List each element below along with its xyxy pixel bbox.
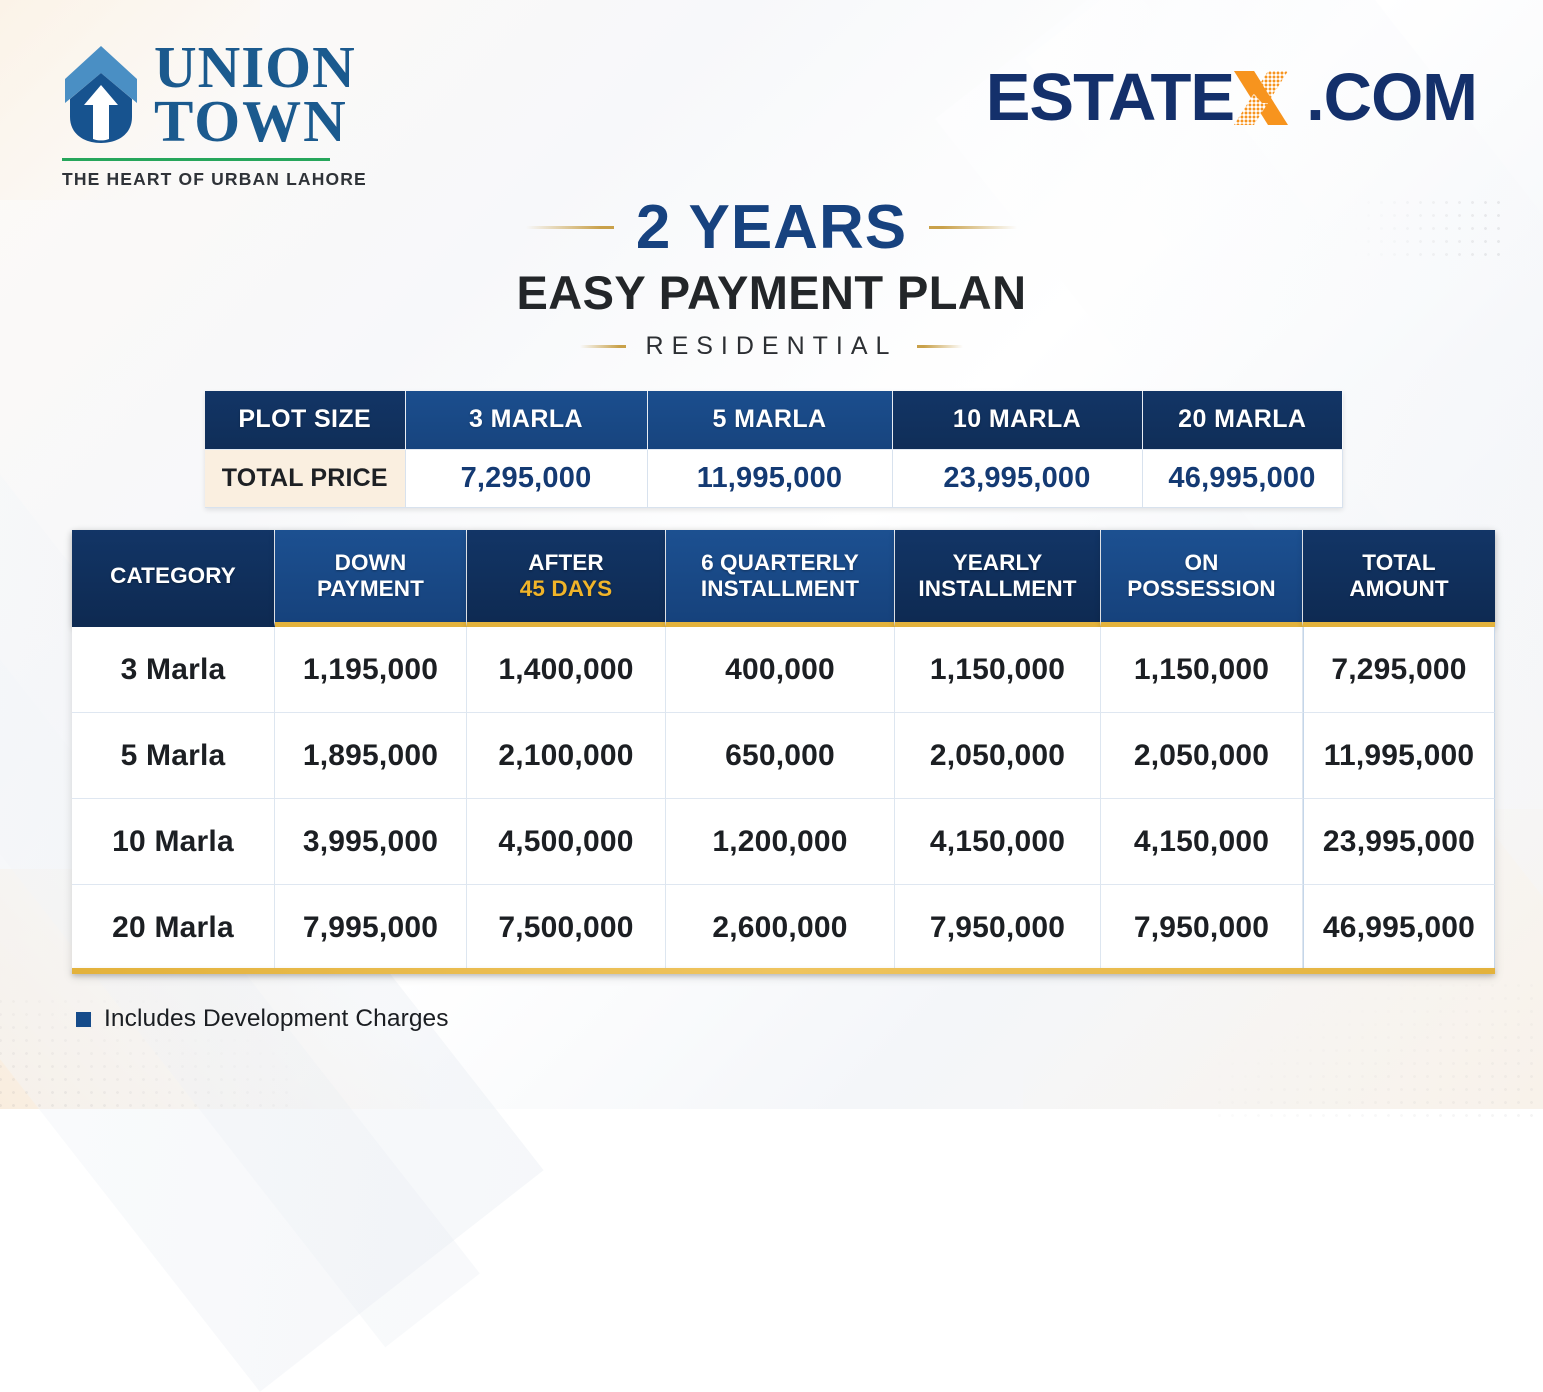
plan-header-total-line2: AMOUNT: [1349, 576, 1448, 601]
row-quarterly: 400,000: [666, 627, 895, 713]
price-header-5-marla: 5 MARLA: [647, 391, 892, 449]
plan-header-45-days-highlight: 45 DAYS: [520, 576, 612, 601]
gold-accent-line-left: [526, 226, 614, 229]
row-total: 46,995,000: [1303, 885, 1495, 971]
plan-header-down-payment-line1: DOWN: [335, 550, 407, 575]
row-yearly: 7,950,000: [895, 885, 1101, 971]
plan-header-quarterly-line2: INSTALLMENT: [701, 576, 859, 601]
footnote: Includes Development Charges: [76, 1005, 449, 1033]
title-years: 2 YEARS: [636, 196, 907, 259]
row-down-payment: 7,995,000: [275, 885, 467, 971]
title-subtitle: RESIDENTIAL: [646, 332, 898, 361]
row-quarterly: 2,600,000: [666, 885, 895, 971]
row-on-possession: 7,950,000: [1101, 885, 1303, 971]
brand-name-line2: TOWN: [154, 94, 356, 148]
row-quarterly: 1,200,000: [666, 799, 895, 885]
plan-header-yearly-installment: YEARLY INSTALLMENT: [895, 530, 1101, 627]
plot-price-table: PLOT SIZE 3 MARLA 5 MARLA 10 MARLA 20 MA…: [205, 391, 1343, 508]
plan-header-possession-line2: POSSESSION: [1127, 576, 1276, 601]
plan-header-category: CATEGORY: [72, 530, 275, 627]
brand-tagline: THE HEART OF URBAN LAHORE: [62, 169, 367, 190]
plan-header-yearly-line1: YEARLY: [953, 550, 1043, 575]
plan-table-header-row: CATEGORY DOWN PAYMENT AFTER 45 DAYS 6 QU…: [72, 530, 1495, 627]
estatex-text-before: ESTATE: [986, 64, 1234, 131]
plan-header-down-payment-line2: PAYMENT: [317, 576, 424, 601]
plan-header-after-45-days: AFTER 45 DAYS: [467, 530, 666, 627]
price-value-20-marla: 46,995,000: [1142, 449, 1342, 507]
plan-header-total-line1: TOTAL: [1362, 550, 1435, 575]
plan-header-quarterly-line1: 6 QUARTERLY: [701, 550, 859, 575]
estatex-x-icon: [1232, 67, 1304, 129]
row-on-possession: 2,050,000: [1101, 713, 1303, 799]
plan-header-after-line1: AFTER: [528, 550, 604, 575]
row-quarterly: 650,000: [666, 713, 895, 799]
row-category: 10 Marla: [72, 799, 275, 885]
estatex-logo[interactable]: ESTATE .COM: [986, 64, 1477, 131]
title-main: EASY PAYMENT PLAN: [0, 265, 1543, 320]
row-down-payment: 3,995,000: [275, 799, 467, 885]
plan-header-total-amount: TOTAL AMOUNT: [1303, 530, 1495, 627]
row-total: 23,995,000: [1303, 799, 1495, 885]
payment-plan-table: CATEGORY DOWN PAYMENT AFTER 45 DAYS 6 QU…: [72, 530, 1495, 971]
union-town-house-arrow-icon: [62, 43, 140, 145]
table-row: 20 Marla 7,995,000 7,500,000 2,600,000 7…: [72, 885, 1495, 971]
price-value-3-marla: 7,295,000: [405, 449, 647, 507]
row-down-payment: 1,195,000: [275, 627, 467, 713]
row-yearly: 2,050,000: [895, 713, 1101, 799]
table-row: 10 Marla 3,995,000 4,500,000 1,200,000 4…: [72, 799, 1495, 885]
price-row-label: TOTAL PRICE: [205, 449, 405, 507]
row-after-45-days: 2,100,000: [467, 713, 666, 799]
row-on-possession: 1,150,000: [1101, 627, 1303, 713]
header: UNION TOWN THE HEART OF URBAN LAHORE EST…: [0, 0, 1543, 200]
plan-header-possession-line1: ON: [1185, 550, 1219, 575]
payment-table-gold-base: [72, 968, 1495, 974]
row-category: 3 Marla: [72, 627, 275, 713]
row-yearly: 1,150,000: [895, 627, 1101, 713]
plan-header-down-payment: DOWN PAYMENT: [275, 530, 467, 627]
price-table-total-row: TOTAL PRICE 7,295,000 11,995,000 23,995,…: [205, 449, 1342, 507]
plan-header-yearly-line2: INSTALLMENT: [918, 576, 1076, 601]
row-on-possession: 4,150,000: [1101, 799, 1303, 885]
brand-green-rule: [62, 158, 330, 161]
price-table-header-row: PLOT SIZE 3 MARLA 5 MARLA 10 MARLA 20 MA…: [205, 391, 1342, 449]
row-total: 11,995,000: [1303, 713, 1495, 799]
brand-name-line1: UNION: [154, 40, 356, 94]
row-down-payment: 1,895,000: [275, 713, 467, 799]
gold-accent-line-sub-right: [917, 345, 963, 348]
table-row: 3 Marla 1,195,000 1,400,000 400,000 1,15…: [72, 627, 1495, 713]
plan-header-category-line1: CATEGORY: [110, 563, 236, 588]
row-category: 20 Marla: [72, 885, 275, 971]
price-value-5-marla: 11,995,000: [647, 449, 892, 507]
price-header-20-marla: 20 MARLA: [1142, 391, 1342, 449]
price-header-plot-size: PLOT SIZE: [205, 391, 405, 449]
price-value-10-marla: 23,995,000: [892, 449, 1142, 507]
row-total: 7,295,000: [1303, 627, 1495, 713]
plan-header-quarterly-installment: 6 QUARTERLY INSTALLMENT: [666, 530, 895, 627]
row-after-45-days: 4,500,000: [467, 799, 666, 885]
plan-header-on-possession: ON POSSESSION: [1101, 530, 1303, 627]
square-bullet-icon: [76, 1012, 91, 1027]
price-header-10-marla: 10 MARLA: [892, 391, 1142, 449]
row-yearly: 4,150,000: [895, 799, 1101, 885]
table-row: 5 Marla 1,895,000 2,100,000 650,000 2,05…: [72, 713, 1495, 799]
estatex-text-after: .COM: [1306, 64, 1477, 131]
price-header-3-marla: 3 MARLA: [405, 391, 647, 449]
gold-accent-line-right: [929, 226, 1017, 229]
title-block: 2 YEARS EASY PAYMENT PLAN RESIDENTIAL: [0, 196, 1543, 361]
row-after-45-days: 1,400,000: [467, 627, 666, 713]
row-category: 5 Marla: [72, 713, 275, 799]
footnote-text: Includes Development Charges: [104, 1005, 449, 1033]
union-town-logo[interactable]: UNION TOWN THE HEART OF URBAN LAHORE: [62, 40, 367, 190]
row-after-45-days: 7,500,000: [467, 885, 666, 971]
gold-accent-line-sub-left: [580, 345, 626, 348]
